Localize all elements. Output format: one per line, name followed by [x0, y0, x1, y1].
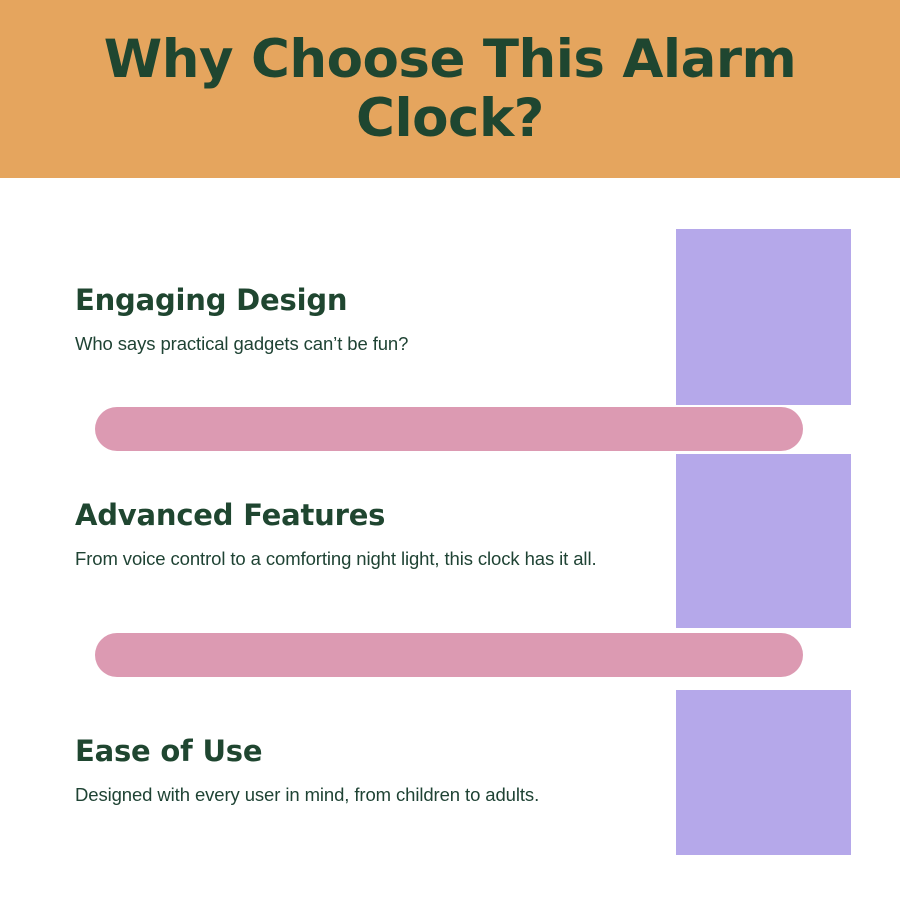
feature-block-ease-of-use: Ease of Use Designed with every user in …: [75, 736, 675, 809]
feature-block-engaging-design: Engaging Design Who says practical gadge…: [75, 285, 675, 358]
feature-block-advanced-features: Advanced Features From voice control to …: [75, 500, 675, 573]
photo-frame-ease-of-use: [676, 690, 851, 855]
feature-description: From voice control to a comforting night…: [75, 546, 675, 573]
feature-title: Ease of Use: [75, 736, 675, 768]
infographic-page: Why Choose This Alarm Clock? Engaging De…: [0, 0, 900, 923]
page-title: Why Choose This Alarm Clock?: [90, 30, 810, 149]
feature-title: Engaging Design: [75, 285, 675, 317]
feature-description: Who says practical gadgets can’t be fun?: [75, 331, 675, 358]
feature-title: Advanced Features: [75, 500, 675, 532]
divider-bar: [95, 633, 803, 677]
header-band: Why Choose This Alarm Clock?: [0, 0, 900, 178]
photo-frame-engaging-design: [676, 229, 851, 405]
divider-bar: [95, 407, 803, 451]
photo-frame-advanced-features: [676, 454, 851, 628]
feature-description: Designed with every user in mind, from c…: [75, 782, 675, 809]
